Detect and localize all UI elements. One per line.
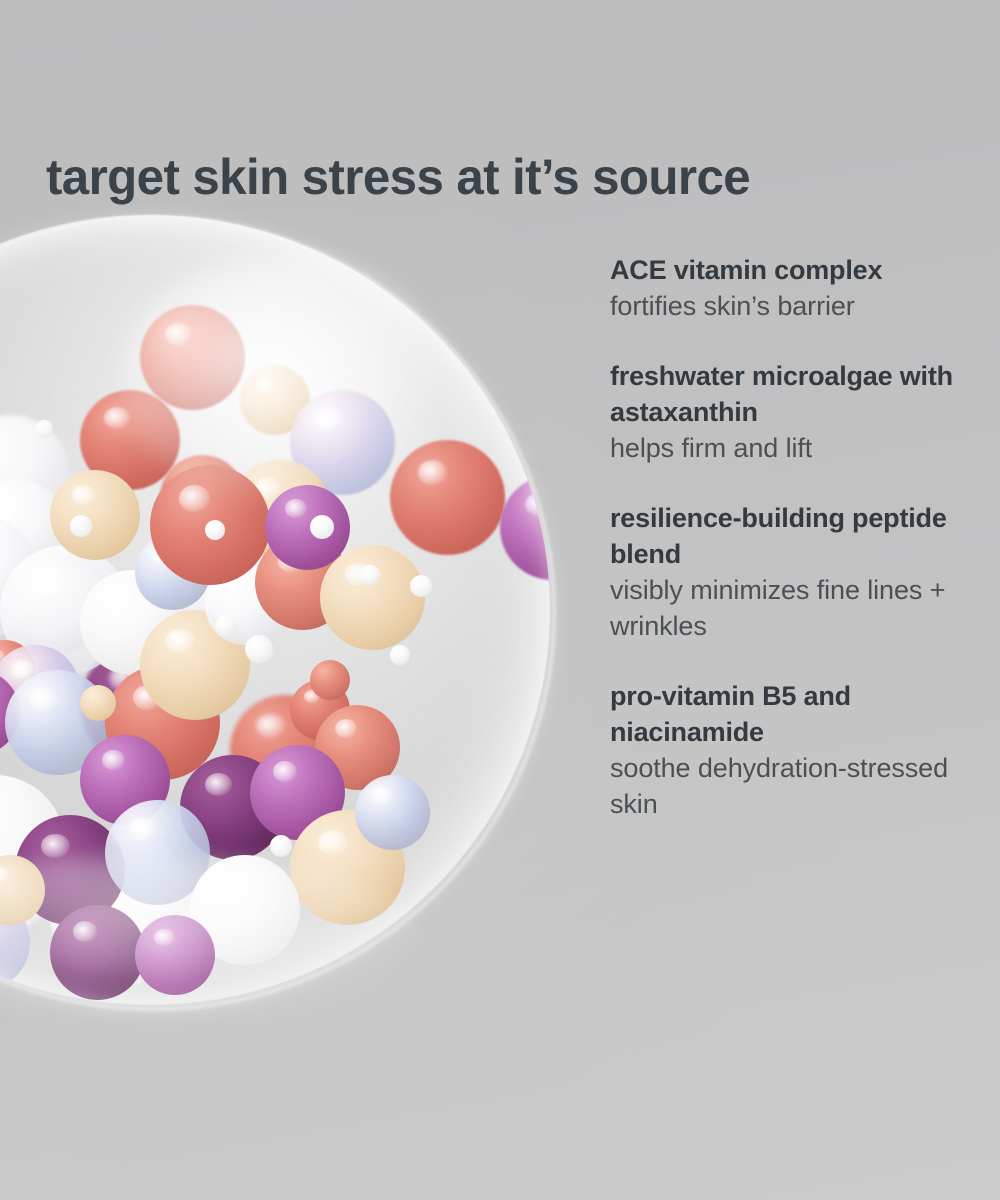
- ingredient-name: freshwater microalgae with astaxanthin: [610, 358, 960, 430]
- ingredient-item-provitamin-b5-niacinamide: pro-vitamin B5 and niacinamide soothe de…: [610, 678, 960, 822]
- glass-highlight: [120, 255, 450, 505]
- ingredient-item-freshwater-microalgae: freshwater microalgae with astaxanthin h…: [610, 358, 960, 466]
- ingredient-benefit: helps firm and lift: [610, 430, 960, 466]
- ingredient-benefit: visibly minimizes fine lines + wrinkles: [610, 572, 960, 644]
- ingredient-item-ace-vitamin-complex: ACE vitamin complex fortifies skin’s bar…: [610, 252, 960, 324]
- bead-cluster: [0, 215, 550, 1005]
- ingredient-name: ACE vitamin complex: [610, 252, 960, 288]
- page-title: target skin stress at it’s source: [46, 152, 942, 202]
- product-ingredient-infographic: target skin stress at it’s source ACE vi…: [0, 0, 1000, 1200]
- glass-bottom-reflection: [0, 855, 430, 1025]
- ingredient-name: pro-vitamin B5 and niacinamide: [610, 678, 960, 750]
- glass-sphere: [0, 215, 550, 1005]
- ingredient-benefit: soothe dehydration-stressed skin: [610, 750, 960, 822]
- ingredient-name: resilience-building peptide blend: [610, 500, 960, 572]
- ingredient-benefits-list: ACE vitamin complex fortifies skin’s bar…: [610, 252, 960, 822]
- hero-image-glass-sphere-beads: [0, 215, 580, 1015]
- glass-sphere-rim: [0, 215, 556, 1011]
- ingredient-benefit: fortifies skin’s barrier: [610, 288, 960, 324]
- ingredient-item-peptide-blend: resilience-building peptide blend visibl…: [610, 500, 960, 644]
